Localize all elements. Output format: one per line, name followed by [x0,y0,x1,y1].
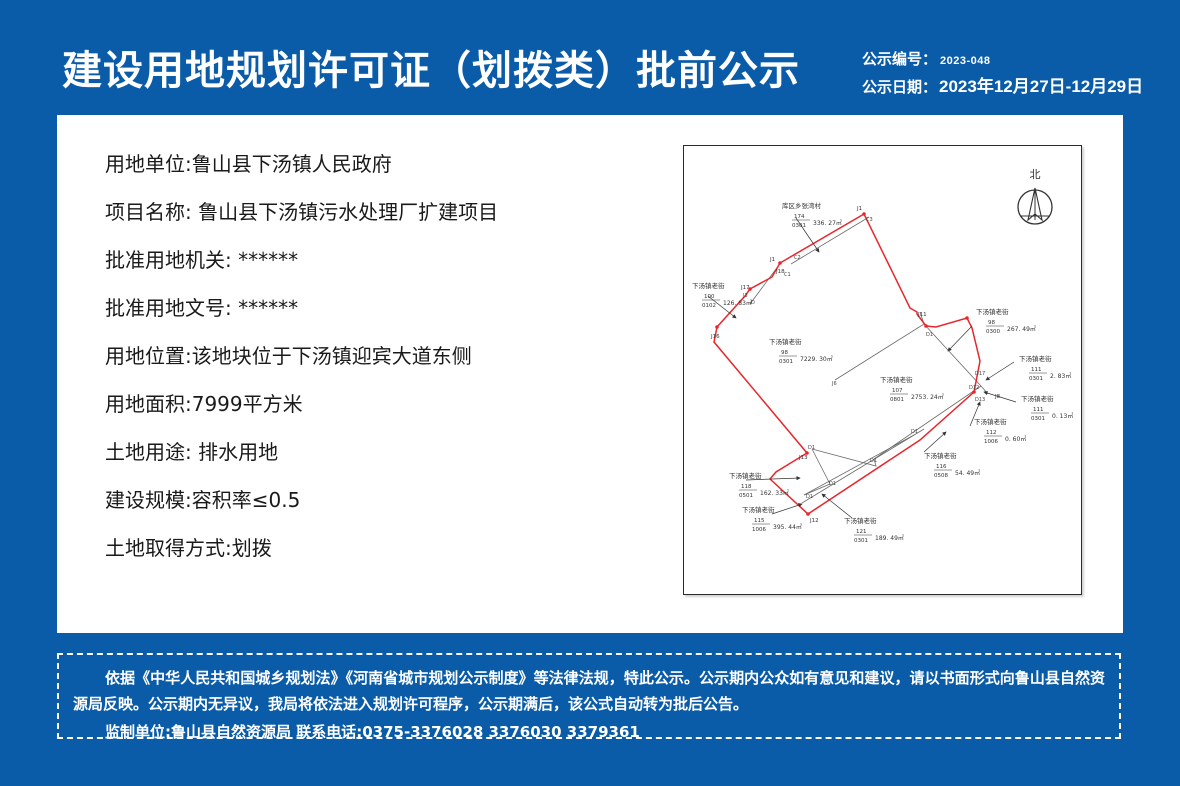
parcel-area: 162. 33㎡ [760,489,789,497]
parcel-code-top: 121 [856,529,867,535]
svg-text:J16: J16 [710,334,720,340]
svg-text:北: 北 [1030,168,1041,181]
svg-text:J11: J11 [917,312,927,318]
parcel-code-bottom: 0501 [739,493,753,499]
svg-text:J13: J13 [798,455,808,461]
header-meta: 公示编号： 2023-048 公示日期： 2023年12月27日-12月29日 [862,48,1143,100]
parcel-area: 126. 83㎡ [723,299,752,307]
svg-text:J3: J3 [742,293,748,299]
cadastral-map: 北 [683,145,1082,595]
parcel-code-top: 111 [1031,367,1042,373]
notice-number-label: 公示编号： [862,48,937,69]
parcel-code-bottom: 0301 [779,359,793,365]
info-row-location: 用地位置:该地块位于下汤镇迎宾大道东侧 [105,332,675,380]
parcel-name: 下汤镇老街 [880,375,913,384]
parcel-area: 0. 60㎡ [1005,435,1026,443]
svg-text:J17: J17 [740,285,750,291]
svg-text:D1: D1 [808,445,815,451]
parcel-name: 下汤镇老街 [976,307,1009,316]
parcel-label: 库区乡张湾村1740301336. 27㎡ [782,201,842,229]
parcel-code-top: 100 [704,294,715,300]
parcel-area: 189. 49㎡ [875,534,904,542]
svg-text:J6: J6 [831,381,837,387]
parcel-area: 267. 49㎡ [1007,325,1036,333]
parcel-name: 下汤镇老街 [974,417,1007,426]
svg-text:J1: J1 [856,206,862,212]
svg-text:D1: D1 [806,494,813,500]
parcel-code-top: 115 [754,518,765,524]
svg-text:D1: D1 [870,458,877,464]
parcel-label: 下汤镇老街1210301189. 49㎡ [844,516,904,544]
parcel-code-top: 107 [892,388,903,394]
svg-text:C3: C3 [866,217,873,223]
parcel-name: 库区乡张湾村 [782,201,822,210]
parcel-code-top: 98 [988,320,995,326]
notice-number-value: 2023-048 [940,55,991,67]
parcel-code-top: 112 [986,430,997,436]
parcel-code-bottom: 0301 [1029,376,1043,382]
info-row-build-scale: 建设规模:容积率≤0.5 [105,476,675,524]
parcel-code-bottom: 0301 [854,538,868,544]
svg-text:C2: C2 [794,255,801,261]
parcel-name: 下汤镇老街 [1019,354,1052,363]
parcel-label: 下汤镇老街11210060. 60㎡ [974,417,1026,445]
parcel-label: 下汤镇老街11103010. 13㎡ [1021,394,1073,422]
svg-text:J12: J12 [809,518,819,524]
content-panel: 用地单位:鲁山县下汤镇人民政府 项目名称: 鲁山县下汤镇污水处理厂扩建项目 批准… [57,115,1123,633]
svg-text:J1: J1 [769,257,775,263]
info-row-approval-org: 批准用地机关: ****** [105,236,675,284]
header: 建设用地规划许可证（划拨类）批前公示 公示编号： 2023-048 公示日期： … [0,0,1180,115]
info-row-land-unit: 用地单位:鲁山县下汤镇人民政府 [105,140,675,188]
parcel-name: 下汤镇老街 [1021,394,1054,403]
notice-number-row: 公示编号： 2023-048 [862,48,1143,69]
parcel-name: 下汤镇老街 [844,516,877,525]
parcel-label: 下汤镇老街1180501162. 33㎡ [729,471,789,499]
parcel-area: 395. 44㎡ [773,523,802,531]
parcel-label: 下汤镇老街980300267. 49㎡ [976,307,1036,335]
parcel-name: 下汤镇老街 [692,281,725,290]
footer-supervisor: 监制单位:鲁山县自然资源局 联系电话:0375-3376028 3376030 … [73,719,1105,745]
info-row-acquisition: 土地取得方式:划拨 [105,524,675,572]
svg-text:D1: D1 [829,481,836,487]
parcel-label: 下汤镇老街116050854. 49㎡ [924,451,980,479]
parcel-name: 下汤镇老街 [729,471,762,480]
notice-date-label: 公示日期： [862,76,937,97]
footer-paragraph: 依据《中华人民共和国城乡规划法》《河南省城市规划公示制度》等法律法规，特此公示。… [73,665,1105,717]
info-row-land-use: 土地用途: 排水用地 [105,428,675,476]
svg-text:C1: C1 [784,272,791,278]
page-title: 建设用地规划许可证（划拨类）批前公示 [62,38,800,96]
land-info-list: 用地单位:鲁山县下汤镇人民政府 项目名称: 鲁山县下汤镇污水处理厂扩建项目 批准… [105,140,675,572]
svg-text:D12: D12 [969,385,979,391]
parcel-code-bottom: 0801 [890,397,904,403]
info-row-project-name: 项目名称: 鲁山县下汤镇污水处理厂扩建项目 [105,188,675,236]
parcel-code-bottom: 0508 [934,473,948,479]
parcel-label: 下汤镇老街10708012753. 24㎡ [880,375,944,403]
parcel-area: 54. 49㎡ [955,469,980,477]
parcel-area: 0. 13㎡ [1052,412,1073,420]
parcel-code-bottom: 0301 [1031,416,1045,422]
cadastral-map-svg: 北 [684,146,1081,594]
svg-text:D1: D1 [926,332,933,338]
parcel-area: 2753. 24㎡ [911,393,944,401]
parcel-code-top: 174 [794,214,805,220]
parcel-name: 下汤镇老街 [924,451,957,460]
parcel-code-top: 118 [741,484,752,490]
notice-date-value: 2023年12月27日-12月29日 [939,72,1143,97]
parcel-label: 下汤镇老街1151006395. 44㎡ [742,505,802,533]
parcel-code-top: 98 [781,350,788,356]
svg-text:D1: D1 [911,429,918,435]
parcel-label: 下汤镇老街11103012. 83㎡ [1019,354,1071,382]
parcel-code-bottom: 1006 [984,439,998,445]
parcel-name: 下汤镇老街 [769,337,802,346]
parcel-code-top: 116 [936,464,947,470]
parcel-code-bottom: 0300 [986,329,1000,335]
parcel-code-bottom: 1006 [752,527,766,533]
parcel-code-bottom: 0301 [792,223,806,229]
footer-notice: 依据《中华人民共和国城乡规划法》《河南省城市规划公示制度》等法律法规，特此公示。… [57,653,1121,739]
svg-text:D17: D17 [975,371,985,377]
parcel-label: 下汤镇老街9803017229. 30㎡ [769,337,833,365]
parcel-code-top: 111 [1033,407,1044,413]
north-arrow-icon: 北 [1018,168,1052,224]
notice-date-row: 公示日期： 2023年12月27日-12月29日 [862,72,1143,97]
parcel-area: 7229. 30㎡ [800,355,833,363]
poster-root: 建设用地规划许可证（划拨类）批前公示 公示编号： 2023-048 公示日期： … [0,0,1180,786]
parcel-area: 2. 83㎡ [1050,372,1071,380]
parcel-name: 下汤镇老街 [742,505,775,514]
info-row-approval-doc: 批准用地文号: ****** [105,284,675,332]
info-row-area: 用地面积:7999平方米 [105,380,675,428]
parcel-code-bottom: 0102 [702,303,716,309]
parcel-area: 336. 27㎡ [813,219,842,227]
